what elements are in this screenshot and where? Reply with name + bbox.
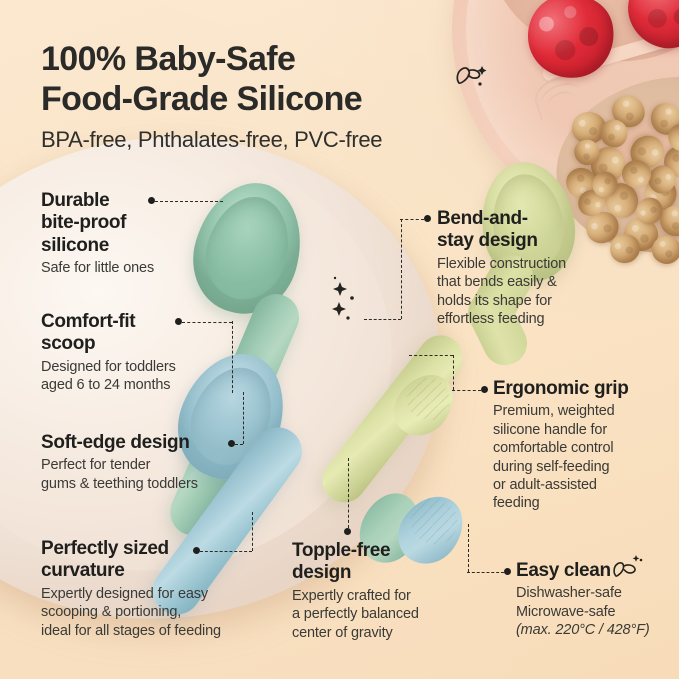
leader-line-ergo-h <box>452 390 481 391</box>
cereal-puff <box>586 142 631 188</box>
feature-ergonomic-grip: Ergonomic grip Premium, weightedsilicone… <box>493 378 678 513</box>
leader-dot-easy-clean <box>504 568 511 575</box>
leader-line-bend-b <box>364 319 401 320</box>
feature-topple-body: Expertly crafted fora perfectly balanced… <box>292 587 472 642</box>
cereal-puff <box>643 161 679 199</box>
leader-dot-topple <box>344 528 351 535</box>
page-title: 100% Baby-Safe Food-Grade Silicone <box>41 40 511 120</box>
feature-soft-edge-body: Perfect for tendergums & teething toddle… <box>41 456 276 493</box>
cereal-puff <box>654 199 679 242</box>
feature-easy-clean-title: Easy clean <box>516 560 679 582</box>
cereal-puff <box>569 135 604 170</box>
feature-durable-title-line-2: bite-proof <box>41 212 251 234</box>
leader-line-bend-v <box>401 219 402 319</box>
feature-topple-title-line-2: design <box>292 562 472 584</box>
infographic-canvas: 100% Baby-Safe Food-Grade Silicone BPA-f… <box>0 0 679 679</box>
leader-dot-ergo <box>481 386 488 393</box>
feature-easy-clean-body: Dishwasher-safeMicrowave-safe <box>516 584 679 621</box>
cereal-puff <box>621 215 660 253</box>
feature-topple-free-design: Topple-free design Expertly crafted fora… <box>292 540 472 642</box>
feature-comfort-fit-scoop: Comfort-fit scoop Designed for toddlersa… <box>41 311 256 395</box>
pink-plate-ridge-3 <box>546 88 579 116</box>
leader-line-easy-h <box>467 572 504 573</box>
feature-bend-title-line-1: Bend-and- <box>437 208 617 230</box>
leader-line-bend-a <box>400 219 424 220</box>
feature-curvature-body: Expertly designed for easyscooping & por… <box>41 585 291 640</box>
feature-curvature-title-line-2: curvature <box>41 560 291 582</box>
cereal-puff <box>624 129 670 174</box>
cereal-puff <box>663 145 679 179</box>
feature-soft-edge-title-line-1: Soft-edge design <box>41 432 276 454</box>
leader-line-ergo-h2 <box>409 355 453 356</box>
cereal-puff <box>648 232 679 268</box>
feature-curvature-title-line-1: Perfectly sized <box>41 538 291 560</box>
cereal-puff <box>560 161 603 204</box>
feature-comfort-title: Comfort-fit scoop <box>41 311 256 356</box>
cereal-puff <box>619 157 654 192</box>
feature-bend-body: Flexible constructionthat bends easily &… <box>437 255 617 329</box>
headline-line-1: 100% Baby-Safe <box>41 40 511 80</box>
sparkle-decoration-center <box>326 276 366 324</box>
feature-durable-title-line-1: Durable <box>41 190 251 212</box>
feature-bend-title-line-2: stay design <box>437 230 617 252</box>
feature-comfort-title-line-2: scoop <box>41 333 256 355</box>
leader-line-topple <box>348 458 349 528</box>
feature-durable-body: Safe for little ones <box>41 259 251 277</box>
page-subtitle: BPA-free, Phthalates-free, PVC-free <box>41 127 521 153</box>
feature-ergo-title: Ergonomic grip <box>493 378 678 400</box>
raspberry-1 <box>520 0 622 86</box>
feature-comfort-body: Designed for toddlersaged 6 to 24 months <box>41 358 256 395</box>
cereal-puff <box>606 89 651 134</box>
leader-line-ergo-v <box>453 355 454 390</box>
cereal-puff <box>572 112 606 144</box>
cereal-puff <box>631 192 668 229</box>
feature-ergo-title-line-1: Ergonomic grip <box>493 378 678 400</box>
raspberry-2 <box>620 0 679 57</box>
feature-topple-title-line-1: Topple-free <box>292 540 472 562</box>
feature-durable-title-line-3: silicone <box>41 235 251 257</box>
pink-plate-divider <box>541 28 679 83</box>
pink-plate-ridge-2 <box>538 78 587 118</box>
feature-comfort-title-line-1: Comfort-fit <box>41 311 256 333</box>
leader-dot-bend <box>424 215 431 222</box>
sparkle-icon-easy-clean <box>604 552 646 588</box>
feature-curvature-title: Perfectly sized curvature <box>41 538 291 583</box>
feature-bend-title: Bend-and- stay design <box>437 208 617 253</box>
lime-spoon-grip-texture <box>398 369 459 429</box>
feature-easy-clean-temp: (max. 220°C / 428°F) <box>516 621 679 639</box>
feature-soft-edge-design: Soft-edge design Perfect for tendergums … <box>41 432 276 493</box>
sparkle-icon-header <box>449 55 489 95</box>
cereal-puff <box>592 171 617 197</box>
feature-topple-title: Topple-free design <box>292 540 472 585</box>
feature-durable-title: Durable bite-proof silicone <box>41 190 251 257</box>
feature-ergo-body: Premium, weightedsilicone handle forcomf… <box>493 402 678 512</box>
cereal-puff <box>647 99 679 138</box>
headline-line-2: Food-Grade Silicone <box>41 80 511 120</box>
cereal-puff <box>599 118 629 149</box>
feature-soft-edge-title: Soft-edge design <box>41 432 276 454</box>
feature-bend-and-stay-design: Bend-and- stay design Flexible construct… <box>437 208 617 328</box>
feature-perfectly-sized-curvature: Perfectly sized curvature Expertly desig… <box>41 538 291 640</box>
pink-plate-well-fruit <box>482 0 679 72</box>
cereal-puff <box>639 172 679 216</box>
feature-easy-clean: Easy clean Dishwasher-safeMicrowave-safe… <box>516 560 679 640</box>
feature-durable: Durable bite-proof silicone Safe for lit… <box>41 190 251 278</box>
cereal-puff <box>663 118 679 157</box>
feature-easy-clean-title-line-1: Easy clean <box>516 560 679 582</box>
pink-plate-ridge-1 <box>530 68 596 120</box>
